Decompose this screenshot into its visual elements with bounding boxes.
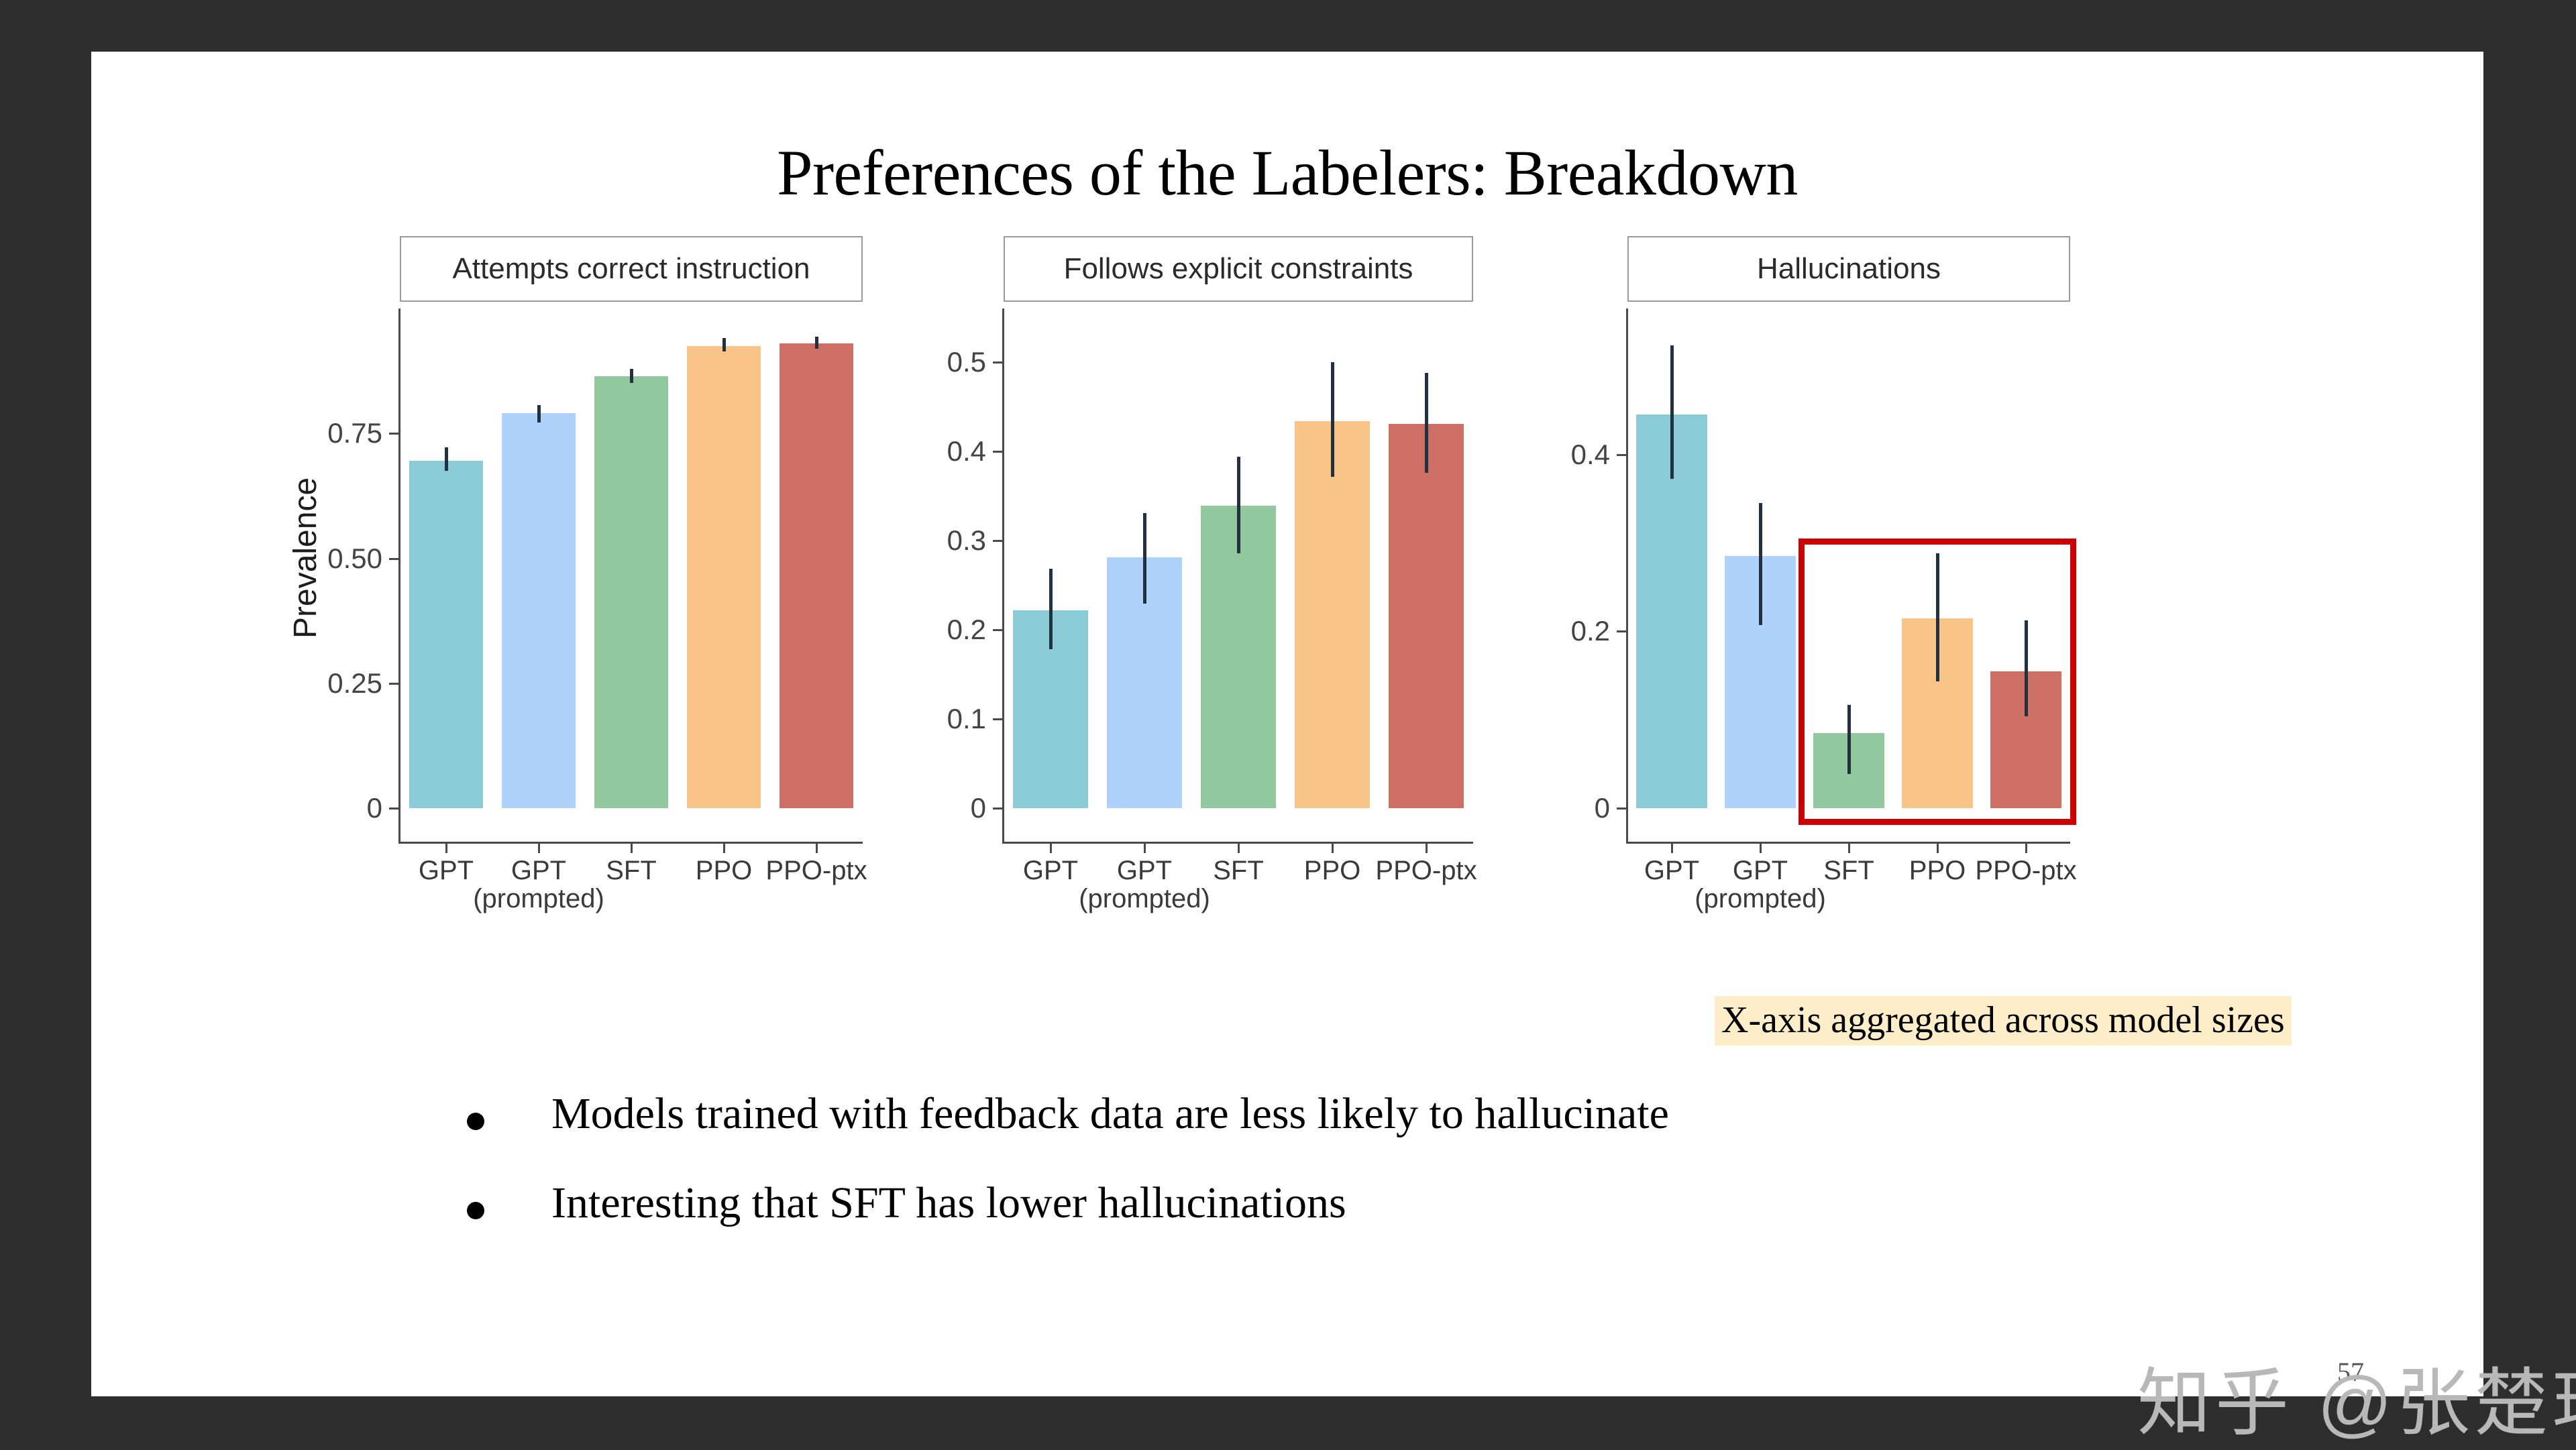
x-axis-label: PPO-ptx xyxy=(1375,856,1477,885)
y-tick-label: 0.25 xyxy=(327,667,382,700)
x-axis-label: GPT xyxy=(1644,856,1699,885)
x-axis-label-main: GPT xyxy=(1023,856,1078,885)
x-axis-label: PPO xyxy=(1304,856,1360,885)
bullet-dot-icon xyxy=(467,1113,484,1130)
x-axis-label-main: GPT xyxy=(419,856,474,885)
y-tick-label: 0.5 xyxy=(947,346,986,378)
bar-ppo xyxy=(1295,421,1370,808)
error-bar xyxy=(815,337,818,348)
y-axis-line xyxy=(398,309,400,843)
x-axis-label: PPO-ptx xyxy=(1975,856,2076,885)
y-tick-mark xyxy=(389,558,398,560)
error-bar xyxy=(722,338,726,351)
bar-ppo-ptx xyxy=(780,343,853,808)
y-tick-label: 0 xyxy=(367,792,382,824)
x-axis-label: SFT xyxy=(606,856,657,885)
chart-panel-1: Attempts correct instruction00.250.500.7… xyxy=(292,236,883,1004)
y-axis-title: Prevalence xyxy=(287,478,324,638)
panel-title-box: Attempts correct instruction xyxy=(400,236,863,302)
x-tick-mark xyxy=(631,844,633,853)
panel-title-text: Hallucinations xyxy=(1757,252,1941,286)
x-axis-label-sub: (prompted) xyxy=(1079,885,1210,913)
bar-gpt xyxy=(502,413,576,808)
x-tick-mark xyxy=(1848,844,1850,853)
y-axis-line xyxy=(1626,309,1628,843)
bar-ppo-ptx xyxy=(1389,424,1464,808)
x-tick-mark xyxy=(1671,844,1673,853)
x-axis-label: SFT xyxy=(1823,856,1874,885)
error-bar xyxy=(630,369,633,383)
chart-panel-3: Hallucinations00.20.4GPTGPT(prompted)SFT… xyxy=(1547,236,2104,1004)
y-tick-mark xyxy=(1617,807,1626,810)
x-tick-mark xyxy=(1937,844,1939,853)
panel-title-box: Follows explicit constraints xyxy=(1004,236,1473,302)
panel-title-text: Follows explicit constraints xyxy=(1064,252,1413,286)
bullet-list: Models trained with feedback data are le… xyxy=(467,1090,2211,1268)
error-bar xyxy=(1049,569,1053,649)
x-tick-mark xyxy=(1426,844,1428,853)
x-axis-label-main: GPT xyxy=(511,856,566,885)
x-axis-label-main: GPT xyxy=(1117,856,1172,885)
panel-title-box: Hallucinations xyxy=(1627,236,2070,302)
x-axis-label-sub: (prompted) xyxy=(1695,885,1826,913)
x-tick-mark xyxy=(723,844,725,853)
x-axis-label: GPT(prompted) xyxy=(473,856,604,913)
x-axis-label-main: SFT xyxy=(1213,856,1264,885)
error-bar xyxy=(445,447,448,471)
x-axis-label: GPT(prompted) xyxy=(1695,856,1826,913)
x-axis-label: PPO-ptx xyxy=(765,856,867,885)
error-bar xyxy=(1936,553,1939,681)
panel-title-text: Attempts correct instruction xyxy=(452,252,810,286)
page-title: Preferences of the Labelers: Breakdown xyxy=(91,135,2483,210)
y-tick-label: 0 xyxy=(1595,792,1610,824)
x-axis-label-main: PPO-ptx xyxy=(1975,856,2076,885)
error-bar xyxy=(1237,457,1240,553)
y-tick-mark xyxy=(389,433,398,435)
y-tick-label: 0.3 xyxy=(947,524,986,557)
y-tick-label: 0.75 xyxy=(327,417,382,449)
y-tick-mark xyxy=(993,451,1002,453)
y-tick-label: 0.4 xyxy=(947,435,986,467)
y-tick-label: 0.2 xyxy=(1571,615,1610,647)
y-tick-mark xyxy=(993,629,1002,631)
x-tick-mark xyxy=(538,844,540,853)
error-bar xyxy=(1759,503,1762,625)
y-tick-label: 0 xyxy=(971,792,986,824)
x-tick-mark xyxy=(1332,844,1334,853)
y-tick-label: 0.4 xyxy=(1571,439,1610,471)
x-axis-label-main: GPT xyxy=(1733,856,1788,885)
x-axis-label: PPO xyxy=(1909,856,1966,885)
slide-canvas: Preferences of the Labelers: Breakdown A… xyxy=(91,52,2483,1396)
x-axis-label: GPT xyxy=(1023,856,1078,885)
x-axis-label: GPT(prompted) xyxy=(1079,856,1210,913)
bar-sft xyxy=(594,376,668,808)
y-axis-line xyxy=(1002,309,1004,843)
x-axis-label-main: SFT xyxy=(606,856,657,885)
x-tick-mark xyxy=(445,844,447,853)
y-tick-label: 0.2 xyxy=(947,614,986,646)
y-tick-mark xyxy=(993,807,1002,810)
list-item: Interesting that SFT has lower hallucina… xyxy=(467,1179,2211,1228)
chart-panel-2: Follows explicit constraints00.10.20.30.… xyxy=(923,236,1513,1004)
x-axis-label: PPO xyxy=(696,856,752,885)
y-tick-mark xyxy=(993,718,1002,720)
error-bar xyxy=(2025,620,2028,716)
x-tick-mark xyxy=(2025,844,2027,853)
x-axis-label-main: PPO-ptx xyxy=(765,856,867,885)
y-tick-mark xyxy=(1617,630,1626,632)
y-tick-mark xyxy=(1617,454,1626,456)
watermark: 知乎 @张楚珣 xyxy=(2137,1343,2576,1450)
x-axis-label-main: PPO xyxy=(1909,856,1966,885)
list-item: Models trained with feedback data are le… xyxy=(467,1090,2211,1139)
x-axis-label-main: PPO xyxy=(1304,856,1360,885)
y-tick-label: 0.1 xyxy=(947,703,986,735)
x-tick-mark xyxy=(1760,844,1762,853)
error-bar xyxy=(1143,513,1146,604)
x-axis-label-sub: (prompted) xyxy=(473,885,604,913)
x-axis-label-main: PPO xyxy=(696,856,752,885)
x-axis-label-main: SFT xyxy=(1823,856,1874,885)
x-axis-label: GPT xyxy=(419,856,474,885)
annotation-callout: X-axis aggregated across model sizes xyxy=(1715,996,2292,1046)
error-bar xyxy=(1670,345,1674,479)
bullet-dot-icon xyxy=(467,1202,484,1219)
y-tick-mark xyxy=(389,683,398,685)
bullet-text: Models trained with feedback data are le… xyxy=(551,1090,1669,1139)
bullet-text: Interesting that SFT has lower hallucina… xyxy=(551,1179,1346,1228)
error-bar xyxy=(1847,705,1851,774)
error-bar xyxy=(537,405,541,423)
x-tick-mark xyxy=(1050,844,1052,853)
bar-ppo xyxy=(687,346,761,808)
x-axis-label: SFT xyxy=(1213,856,1264,885)
x-axis-label-main: GPT xyxy=(1644,856,1699,885)
x-tick-mark xyxy=(1144,844,1146,853)
y-tick-mark xyxy=(993,540,1002,542)
error-bar xyxy=(1425,373,1428,473)
bar-gpt xyxy=(409,461,483,808)
x-tick-mark xyxy=(816,844,818,853)
x-tick-mark xyxy=(1238,844,1240,853)
y-tick-mark xyxy=(389,807,398,810)
y-tick-mark xyxy=(993,361,1002,364)
y-tick-label: 0.50 xyxy=(327,543,382,575)
x-axis-label-main: PPO-ptx xyxy=(1375,856,1477,885)
error-bar xyxy=(1331,362,1334,478)
chart-figure: Attempts correct instruction00.250.500.7… xyxy=(292,236,2104,1004)
